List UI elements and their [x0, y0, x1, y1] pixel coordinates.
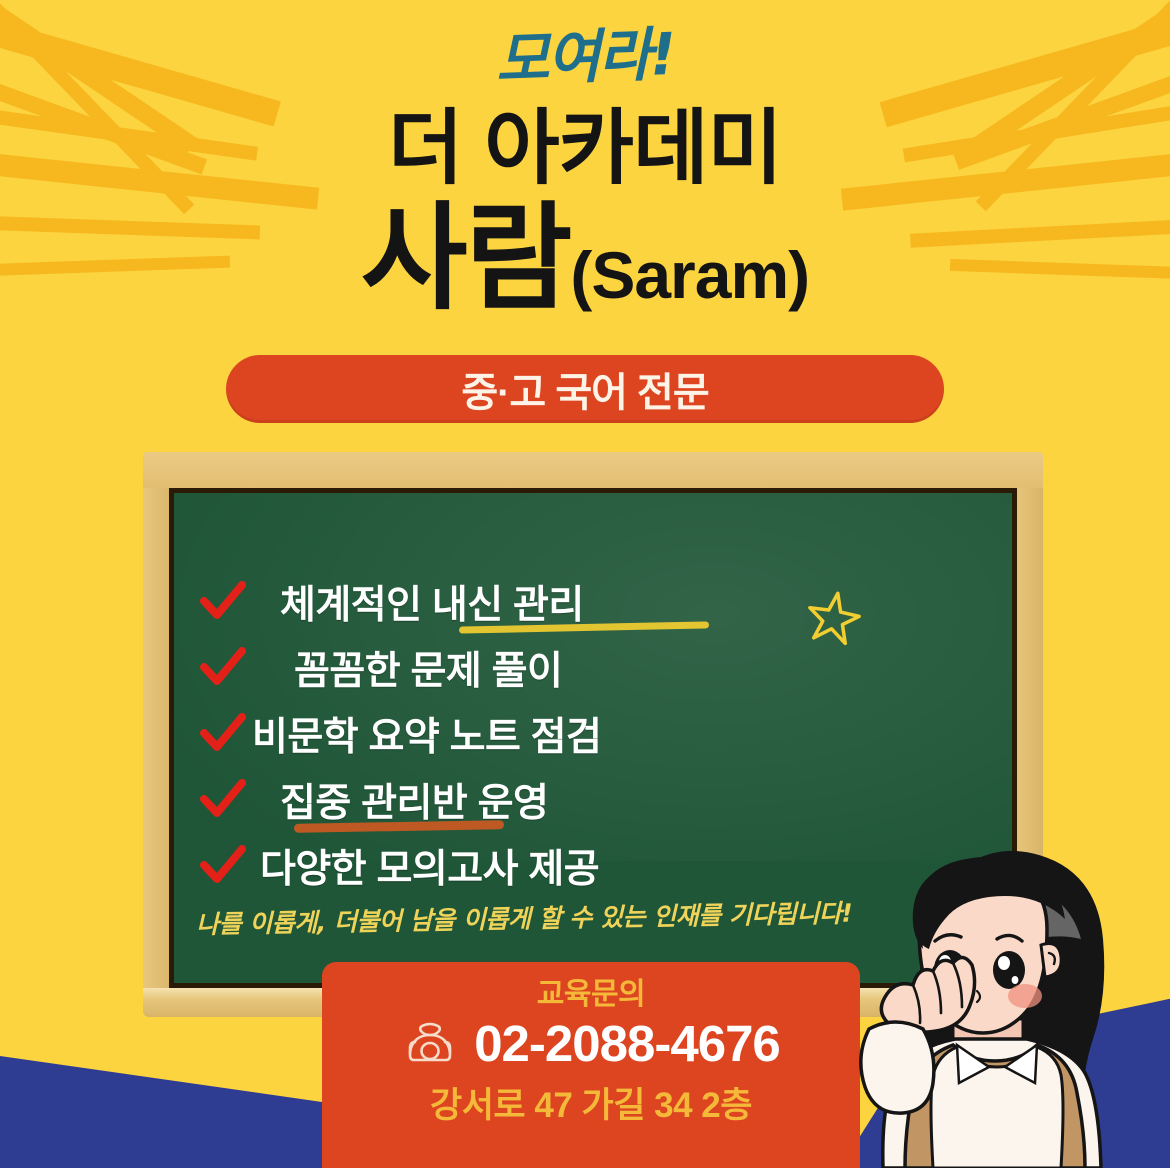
chalkboard-top-frame	[143, 452, 1043, 492]
academy-title-line1: 더 아카데미	[0, 108, 1170, 190]
red-check-icon	[194, 647, 252, 689]
academy-name-english: (Saram)	[570, 238, 809, 312]
list-item: 꼼꼼한 문제 풀이	[194, 637, 1004, 699]
subject-badge-label: 중·고 국어 전문	[461, 360, 708, 418]
red-check-icon	[194, 713, 252, 755]
poster-canvas: 모여라! 더 아카데미 사람(Saram) 중·고 국어 전문 체계적인 내신 …	[0, 0, 1170, 1168]
list-item-label: 다양한 모의고사 제공	[260, 838, 599, 894]
red-check-icon	[194, 779, 252, 821]
list-item: 비문학 요약 노트 점검	[194, 703, 1004, 765]
contact-phone-row: 02-2088-4676	[322, 1018, 860, 1069]
telephone-icon	[402, 1020, 458, 1066]
academy-name-korean: 사람	[361, 193, 570, 323]
handwritten-headline: 모여라!	[0, 8, 1170, 107]
contact-address: 강서로 47 가길 34 2층	[322, 1077, 860, 1128]
red-check-icon	[194, 845, 252, 887]
list-item: 체계적인 내신 관리	[194, 571, 1004, 633]
contact-phone-number[interactable]: 02-2088-4676	[474, 1018, 780, 1069]
red-check-icon	[194, 581, 252, 623]
list-item-label: 체계적인 내신 관리	[280, 574, 584, 630]
contact-box: 교육문의 02-2088-4676 강서로 47 가길 34 2층	[322, 962, 860, 1168]
contact-label: 교육문의	[322, 976, 860, 1014]
list-item-label: 집중 관리반 운영	[280, 772, 548, 828]
list-item-label: 꼼꼼한 문제 풀이	[294, 640, 562, 696]
academy-title-line2: 사람(Saram)	[0, 200, 1170, 316]
subject-badge: 중·고 국어 전문	[226, 355, 944, 423]
list-item-label: 비문학 요약 노트 점검	[252, 706, 601, 762]
student-character-illustration	[825, 823, 1170, 1168]
list-item: 집중 관리반 운영	[194, 769, 1004, 831]
